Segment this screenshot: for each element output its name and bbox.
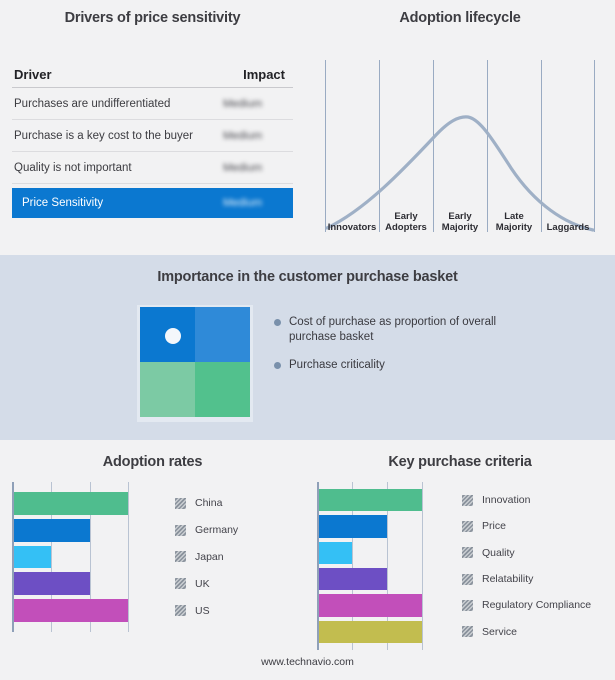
legend-item: Purchase criticality [274,358,594,373]
impact-value: Medium [223,197,285,209]
legend-label: Quality [482,547,515,559]
driver-label: Quality is not important [14,162,132,174]
lifecycle-stage-early-majority: Early Majority [433,205,487,233]
bar[interactable] [319,621,422,643]
legend-item: Cost of purchase as proportion of overal… [274,315,594,344]
bar[interactable] [14,572,90,595]
impact-value: Medium [223,130,285,142]
lifecycle-stage-labels: Innovators Early Adopters Early Majority… [325,205,595,233]
bar[interactable] [319,515,387,537]
column-header-driver: Driver [14,67,52,82]
table-row[interactable]: Purchase is a key cost to the buyer Medi… [12,120,293,152]
column-header-impact: Impact [243,67,285,82]
legend-item[interactable]: UK [175,570,238,597]
legend-label: US [195,605,210,617]
quadrant-bottom-right [195,362,250,417]
hatched-swatch-icon [175,578,186,589]
quadrant-top-right [195,307,250,362]
table-header-row: Driver Impact [12,62,293,88]
legend-item[interactable]: Germany [175,517,238,544]
gridline [128,482,129,632]
adoption-rates-legend: ChinaGermanyJapanUKUS [175,490,238,624]
stage-line-2: Majority [442,222,478,233]
adoption-rates-title: Adoption rates [0,454,305,470]
legend-label: Germany [195,524,238,536]
footer-url: www.technavio.com [0,656,615,668]
legend-label: Innovation [482,494,530,506]
legend-label: Cost of purchase as proportion of overal… [289,315,539,344]
legend-label: Service [482,626,517,638]
key-purchase-criteria-title: Key purchase criteria [305,454,615,470]
key-purchase-criteria-legend: InnovationPriceQualityRelatabilityRegula… [462,487,591,645]
bar[interactable] [14,519,90,542]
bar[interactable] [319,568,387,590]
key-purchase-criteria-panel: Key purchase criteria InnovationPriceQua… [305,440,615,680]
purchase-basket-panel: Importance in the customer purchase bask… [0,255,615,440]
bullet-dot-icon [274,319,281,326]
quadrant-bottom-left [140,362,195,417]
lifecycle-stage-innovators: Innovators [325,205,379,233]
legend-label: China [195,497,222,509]
table-row-highlighted[interactable]: Price Sensitivity Medium [12,188,293,218]
bar[interactable] [14,492,128,515]
hatched-swatch-icon [175,525,186,536]
legend-item[interactable]: Price [462,513,591,539]
impact-value: Medium [223,162,285,174]
bullet-dot-icon [274,362,281,369]
adoption-lifecycle-panel: Adoption lifecycle Innovators Early Adop… [305,0,615,255]
legend-label: Regulatory Compliance [482,599,591,611]
legend-label: Purchase criticality [289,358,385,373]
driver-label: Purchases are undifferentiated [14,98,170,110]
lifecycle-stage-late-majority: Late Majority [487,205,541,233]
legend-item[interactable]: Service [462,619,591,645]
drivers-title: Drivers of price sensitivity [0,10,305,26]
key-purchase-criteria-chart [317,482,457,650]
legend-label: UK [195,578,210,590]
hatched-swatch-icon [175,605,186,616]
stage-line-2: Laggards [547,222,590,233]
hatched-swatch-icon [175,498,186,509]
gridline [422,482,423,650]
bar[interactable] [319,594,422,616]
bar[interactable] [319,542,352,564]
lifecycle-stage-early-adopters: Early Adopters [379,205,433,233]
legend-item[interactable]: China [175,490,238,517]
basket-legend: Cost of purchase as proportion of overal… [274,315,594,387]
stage-line-2: Majority [496,222,532,233]
lifecycle-stage-laggards: Laggards [541,205,595,233]
hatched-swatch-icon [462,626,473,637]
hatched-swatch-icon [462,547,473,558]
bar[interactable] [14,546,51,569]
legend-item[interactable]: Regulatory Compliance [462,592,591,618]
stage-line-1: Early [448,211,471,222]
legend-label: Japan [195,551,224,563]
legend-item[interactable]: Quality [462,540,591,566]
table-row[interactable]: Purchases are undifferentiated Medium [12,88,293,120]
impact-value: Medium [223,98,285,110]
driver-label: Price Sensitivity [22,197,103,209]
hatched-swatch-icon [462,521,473,532]
legend-label: Relatability [482,573,533,585]
adoption-rates-chart [12,482,167,632]
legend-label: Price [482,520,506,532]
position-dot-icon [165,328,181,344]
drivers-panel: Drivers of price sensitivity Driver Impa… [0,0,305,255]
hatched-swatch-icon [462,495,473,506]
legend-item[interactable]: Relatability [462,566,591,592]
basket-title: Importance in the customer purchase bask… [0,269,615,285]
hatched-swatch-icon [462,574,473,585]
legend-item[interactable]: US [175,597,238,624]
stage-line-2: Adopters [385,222,427,233]
legend-item[interactable]: Japan [175,544,238,571]
bar[interactable] [14,599,128,622]
hatched-swatch-icon [175,551,186,562]
stage-line-2: Innovators [328,222,377,233]
stage-line-1: Early [394,211,417,222]
table-row[interactable]: Quality is not important Medium [12,152,293,184]
lifecycle-title: Adoption lifecycle [305,10,615,26]
adoption-rates-panel: Adoption rates ChinaGermanyJapanUKUS [0,440,305,680]
bar[interactable] [319,489,422,511]
drivers-table: Driver Impact Purchases are undifferenti… [12,62,293,218]
legend-item[interactable]: Innovation [462,487,591,513]
quadrant-matrix [137,305,253,422]
hatched-swatch-icon [462,600,473,611]
driver-label: Purchase is a key cost to the buyer [14,130,193,142]
stage-line-1: Late [504,211,524,222]
